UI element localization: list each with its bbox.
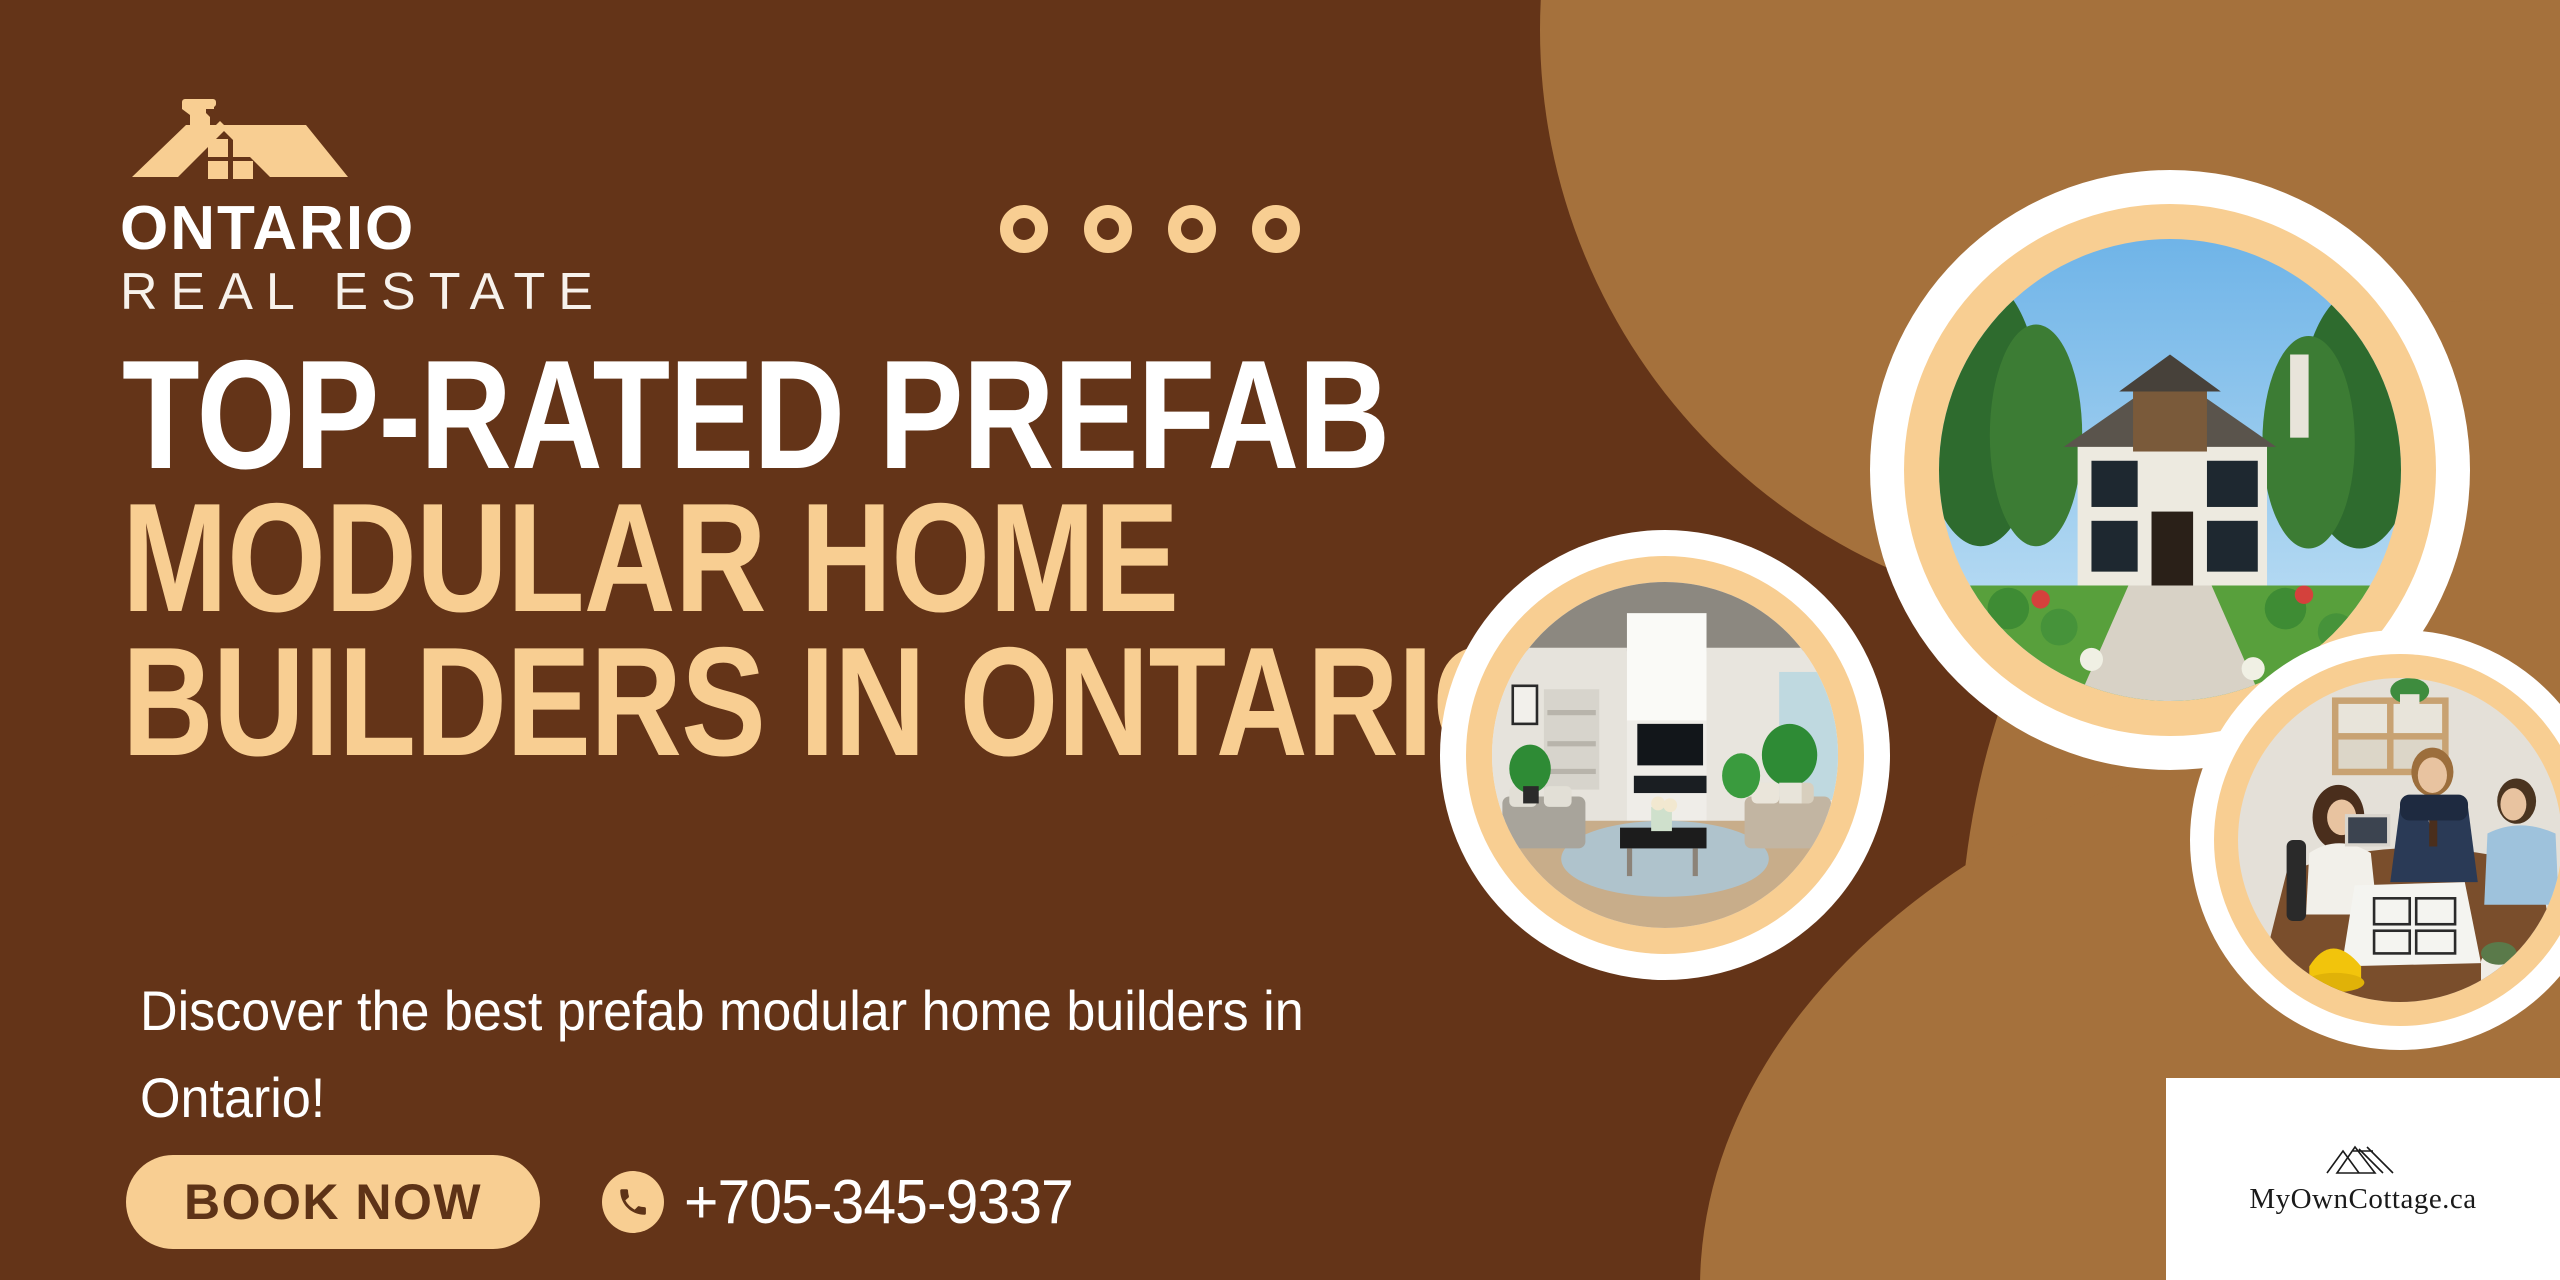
- headline-line-2: MODULAR HOME: [122, 491, 1286, 624]
- brand-logo[interactable]: ONTARIO REAL ESTATE: [120, 95, 606, 321]
- headline-line-1: TOP-RATED PREFAB: [122, 348, 1286, 481]
- brand-name-primary: ONTARIO: [120, 198, 606, 260]
- footer-logo-text: MyOwnCottage.ca: [2249, 1183, 2476, 1216]
- photo-ring: [1466, 556, 1864, 954]
- cta-row: BOOK NOW +705-345-9337: [126, 1155, 1093, 1249]
- exterior-modular-home: [1939, 239, 2401, 701]
- headline-block: TOP-RATED PREFAB MODULAR HOME BUILDERS I…: [122, 348, 1542, 768]
- photo-circle-living-room: [1440, 530, 1890, 980]
- promotional-banner: ONTARIO REAL ESTATE TOP-RATED PREFAB MOD…: [0, 0, 2560, 1280]
- phone-handset-icon: [602, 1171, 664, 1233]
- headline-line-3: BUILDERS IN ONTARIO: [122, 635, 1286, 768]
- interior-living-room: [1492, 582, 1838, 928]
- decorative-dots: [1000, 205, 1300, 253]
- book-now-button[interactable]: BOOK NOW: [126, 1155, 540, 1249]
- brand-name-secondary: REAL ESTATE: [120, 264, 606, 321]
- footer-logo-card: MyOwnCottage.ca: [2166, 1078, 2560, 1280]
- house-roof-icon: [120, 95, 350, 190]
- phone-number: +705-345-9337: [684, 1167, 1073, 1238]
- roof-lines-icon: [2323, 1143, 2403, 1177]
- subtitle-text: Discover the best prefab modular home bu…: [140, 968, 1312, 1142]
- ring-dot-icon: [1000, 205, 1048, 253]
- photo-ring: [2214, 654, 2560, 1026]
- ring-dot-icon: [1168, 205, 1216, 253]
- ring-dot-icon: [1252, 205, 1300, 253]
- ring-dot-icon: [1084, 205, 1132, 253]
- consultation-meeting: [2238, 678, 2560, 1002]
- phone-contact[interactable]: +705-345-9337: [602, 1167, 1093, 1238]
